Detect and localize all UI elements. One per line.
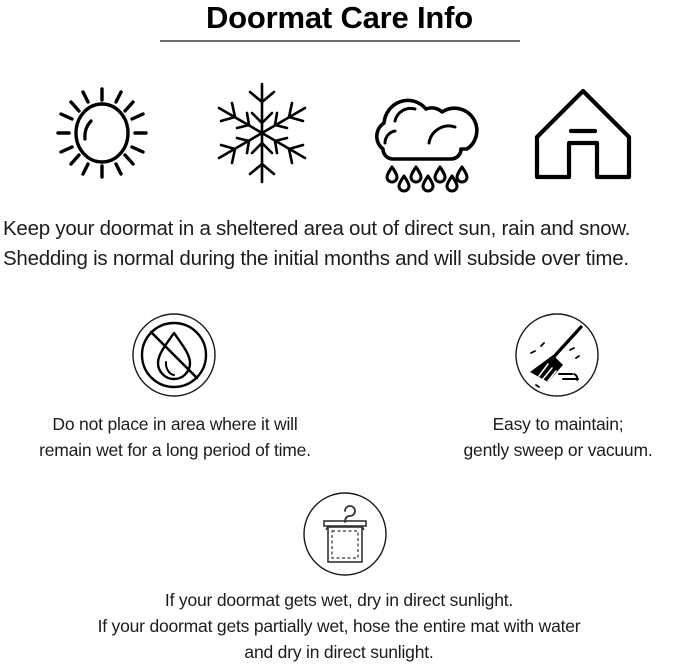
- rain-cloud-icon-cell: [347, 68, 497, 198]
- house-icon-cell: [508, 68, 658, 198]
- sun-icon: [48, 79, 156, 187]
- house-icon: [527, 79, 639, 187]
- hang-to-dry-badge: [302, 491, 388, 577]
- snowflake-icon: [210, 78, 314, 188]
- page-header: Doormat Care Info: [0, 0, 679, 42]
- broom-icon: [514, 312, 600, 398]
- hang-to-dry-caption-line-2: If your doormat gets partially wet, hose…: [39, 613, 639, 639]
- intro-line-1: Keep your doormat in a sheltered area ou…: [3, 214, 679, 244]
- broom-badge: [514, 312, 600, 398]
- no-water-badge: [131, 312, 217, 398]
- intro-paragraph: Keep your doormat in a sheltered area ou…: [3, 214, 679, 274]
- broom-caption: Easy to maintain; gently sweep or vacuum…: [408, 411, 679, 463]
- weather-icon-row: [0, 68, 679, 198]
- hang-to-dry-icon: [302, 491, 388, 577]
- hang-to-dry-caption: If your doormat gets wet, dry in direct …: [39, 587, 639, 665]
- page-title: Doormat Care Info: [0, 0, 679, 35]
- rain-cloud-icon: [363, 77, 481, 189]
- no-water-caption-line-1: Do not place in area where it will: [25, 411, 325, 437]
- intro-line-2: Shedding is normal during the initial mo…: [3, 244, 679, 274]
- hang-to-dry-caption-line-3: and dry in direct sunlight.: [39, 639, 639, 665]
- care-badge-row: [0, 312, 679, 412]
- title-divider: [160, 40, 520, 42]
- no-water-caption: Do not place in area where it will remai…: [25, 411, 325, 463]
- broom-caption-line-1: Easy to maintain;: [408, 411, 679, 437]
- sun-icon-cell: [27, 68, 177, 198]
- hang-to-dry-caption-line-1: If your doormat gets wet, dry in direct …: [39, 587, 639, 613]
- no-water-icon: [131, 312, 217, 398]
- snowflake-icon-cell: [187, 68, 337, 198]
- no-water-caption-line-2: remain wet for a long period of time.: [25, 437, 325, 463]
- broom-caption-line-2: gently sweep or vacuum.: [408, 437, 679, 463]
